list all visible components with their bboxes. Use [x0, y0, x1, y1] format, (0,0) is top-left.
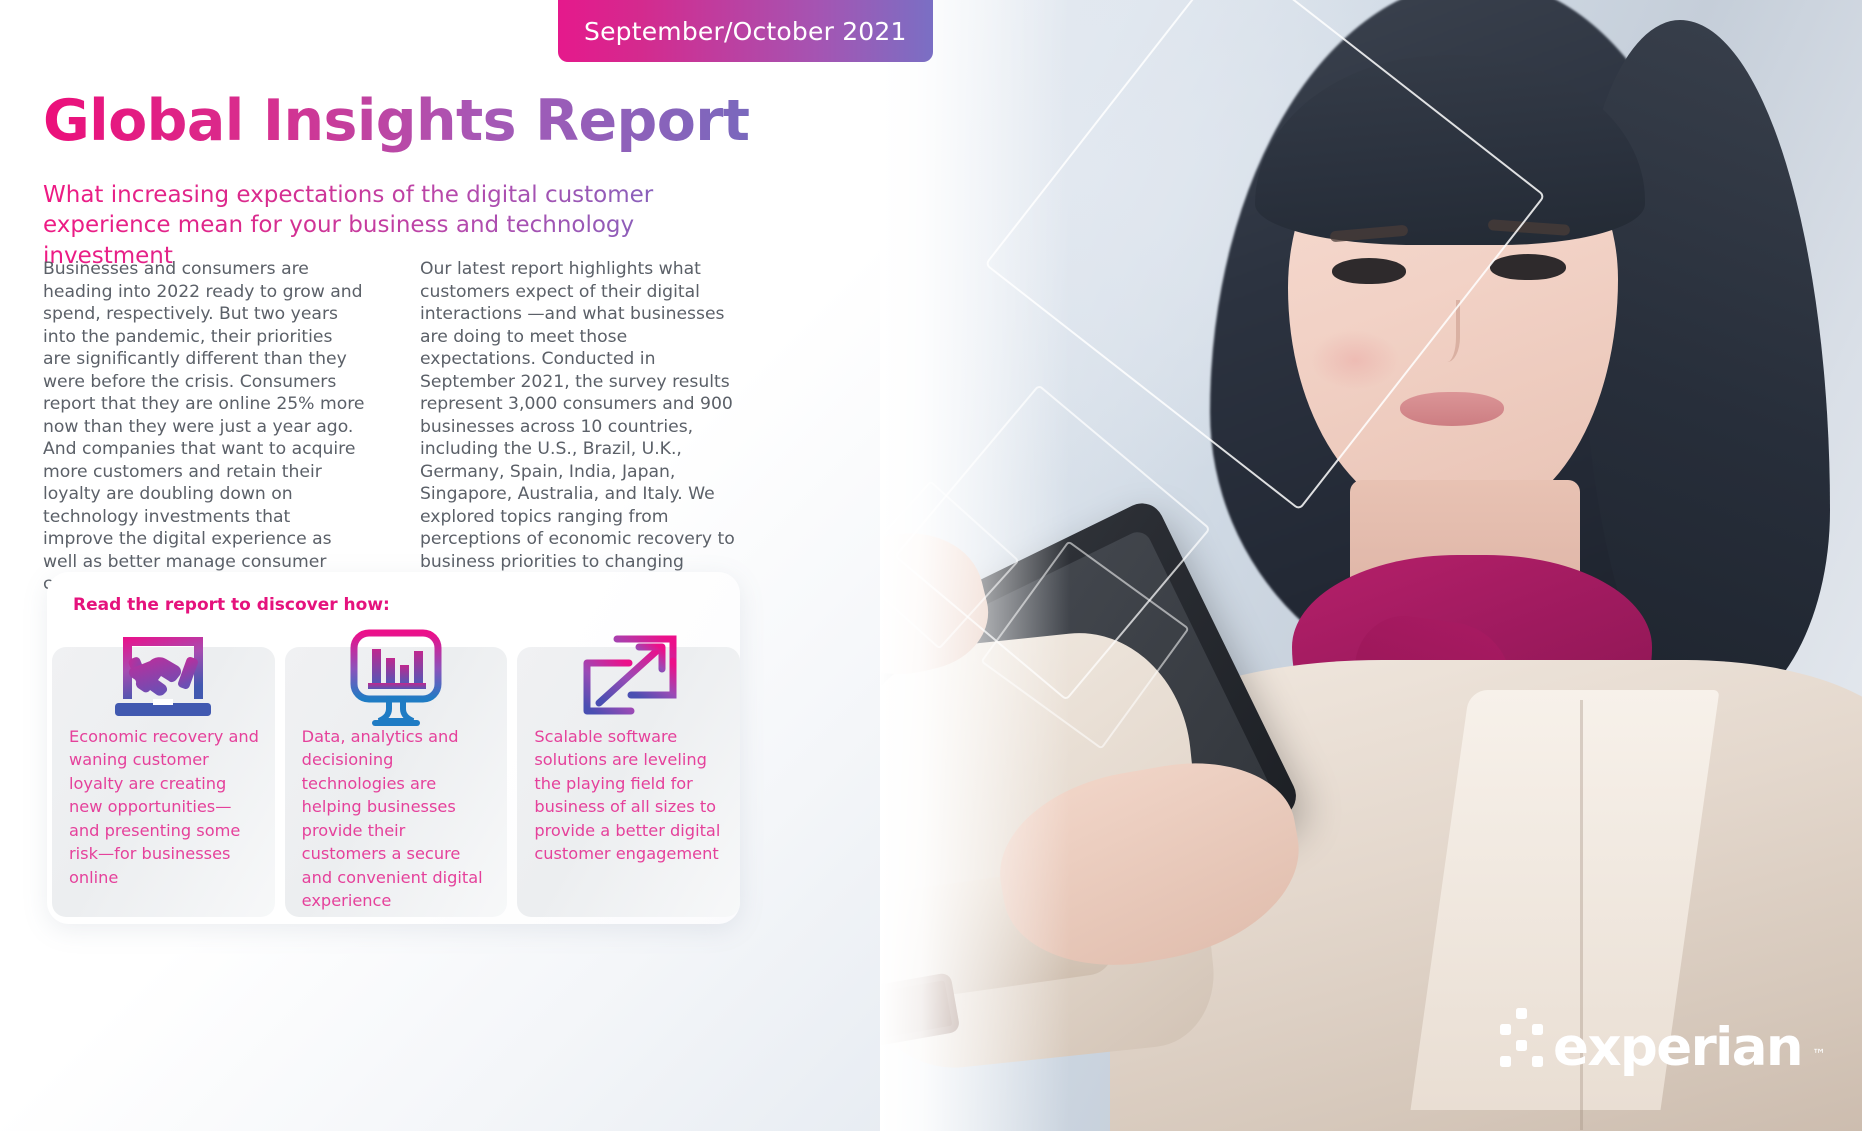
discover-tile-2-text: Data, analytics and decisioning technolo…	[299, 725, 494, 913]
experian-logo-tm: ™	[1812, 1047, 1826, 1063]
page-title: Global Insights Report	[43, 88, 749, 154]
intro-column-2: Our latest report highlights what custom…	[420, 258, 742, 596]
date-banner-label: September/October 2021	[584, 17, 907, 46]
experian-logo-dots	[1500, 1008, 1543, 1067]
discover-tile-3[interactable]: Scalable software solutions are leveling…	[517, 647, 740, 917]
discover-tile-1-text: Economic recovery and waning customer lo…	[66, 725, 261, 889]
experian-logo: experian ™	[1500, 1008, 1826, 1073]
scalable-expand-arrow-icon	[569, 625, 689, 727]
discover-tile-3-text: Scalable software solutions are leveling…	[531, 725, 726, 866]
discover-card-heading: Read the report to discover how:	[73, 595, 390, 615]
photo-eye-right	[1490, 254, 1566, 280]
experian-logo-wordmark: experian	[1553, 1023, 1802, 1073]
discover-tile-1[interactable]: Economic recovery and waning customer lo…	[52, 647, 275, 917]
discover-tile-2[interactable]: Data, analytics and decisioning technolo…	[285, 647, 508, 917]
intro-columns: Businesses and consumers are heading int…	[43, 258, 743, 596]
photo-lips	[1400, 392, 1504, 426]
date-banner: September/October 2021	[558, 0, 933, 62]
hero-photo	[880, 0, 1862, 1131]
monitor-bar-chart-icon	[336, 625, 456, 727]
laptop-handshake-icon	[103, 625, 223, 727]
intro-column-1: Businesses and consumers are heading int…	[43, 258, 365, 596]
discover-tiles: Economic recovery and waning customer lo…	[47, 647, 740, 917]
